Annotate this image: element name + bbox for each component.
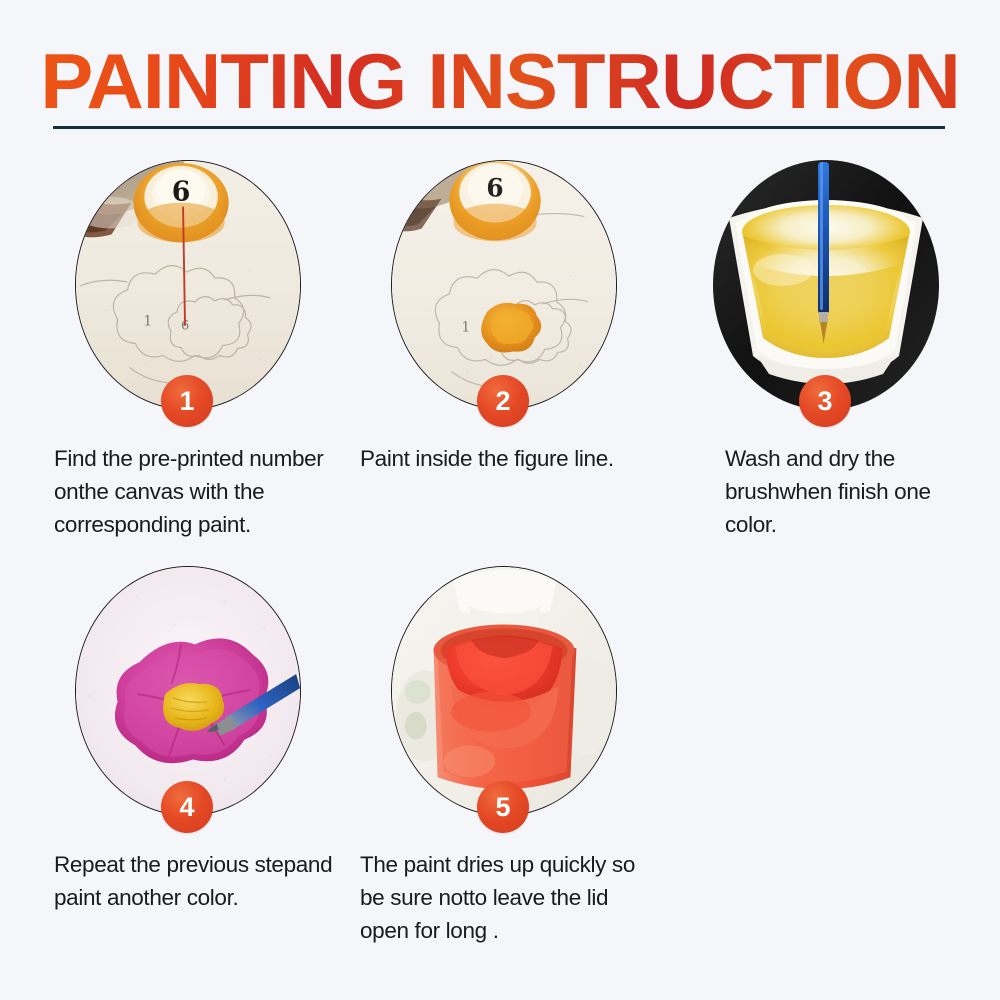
step-badge-3: 3 (799, 375, 851, 427)
step-2-media: 1 6 2 (343, 160, 663, 410)
step-4-media: 4 (27, 566, 347, 816)
brush-washing-in-water-cup-image (713, 160, 939, 410)
page-title: PAINTING INSTRUCTION (0, 40, 1000, 122)
step-badge-1: 1 (161, 375, 213, 427)
step-card-3: 3 Wash and dry the brushwhen finish one … (663, 160, 983, 410)
step-caption-5: The paint dries up quickly so be sure no… (360, 848, 660, 947)
step-1-media: 1 6 6 1 (27, 160, 347, 410)
step-card-5: 5 The paint dries up quickly so be sure … (343, 566, 663, 816)
svg-text:6: 6 (486, 174, 503, 203)
step-badge-5: 5 (477, 781, 529, 833)
steps-row-1: 1 6 6 1 Find the pre-printed nu (0, 160, 1000, 580)
canvas-with-painted-area-image: 1 6 (391, 160, 617, 410)
step-card-1: 1 6 6 1 Find the pre-printed nu (27, 160, 347, 410)
step-caption-1: Find the pre-printed number onthe canvas… (54, 442, 329, 541)
page-header: PAINTING INSTRUCTION (0, 0, 1000, 150)
canvas-with-printed-numbers-and-paint-pot-image: 1 6 6 (75, 160, 301, 410)
steps-grid: 1 6 6 1 Find the pre-printed nu (0, 160, 1000, 986)
step-3-media: 3 (663, 160, 983, 410)
step-caption-4: Repeat the previous stepand paint anothe… (54, 848, 344, 914)
step-caption-2: Paint inside the figure line. (360, 442, 660, 475)
svg-text:1: 1 (461, 320, 470, 336)
steps-row-2: 4 Repeat the previous stepand paint anot… (0, 566, 1000, 986)
open-red-paint-pot-image (391, 566, 617, 816)
step-5-media: 5 (343, 566, 663, 816)
step-caption-3: Wash and dry the brushwhen finish one co… (725, 442, 975, 541)
step-badge-4: 4 (161, 781, 213, 833)
pink-painted-flower-with-brush-image (75, 566, 301, 816)
step-badge-2: 2 (477, 375, 529, 427)
step-card-2: 1 6 2 Paint inside the figure line. (343, 160, 663, 410)
title-underline (53, 126, 945, 129)
step-card-4: 4 Repeat the previous stepand paint anot… (27, 566, 347, 816)
svg-text:1: 1 (143, 314, 152, 330)
